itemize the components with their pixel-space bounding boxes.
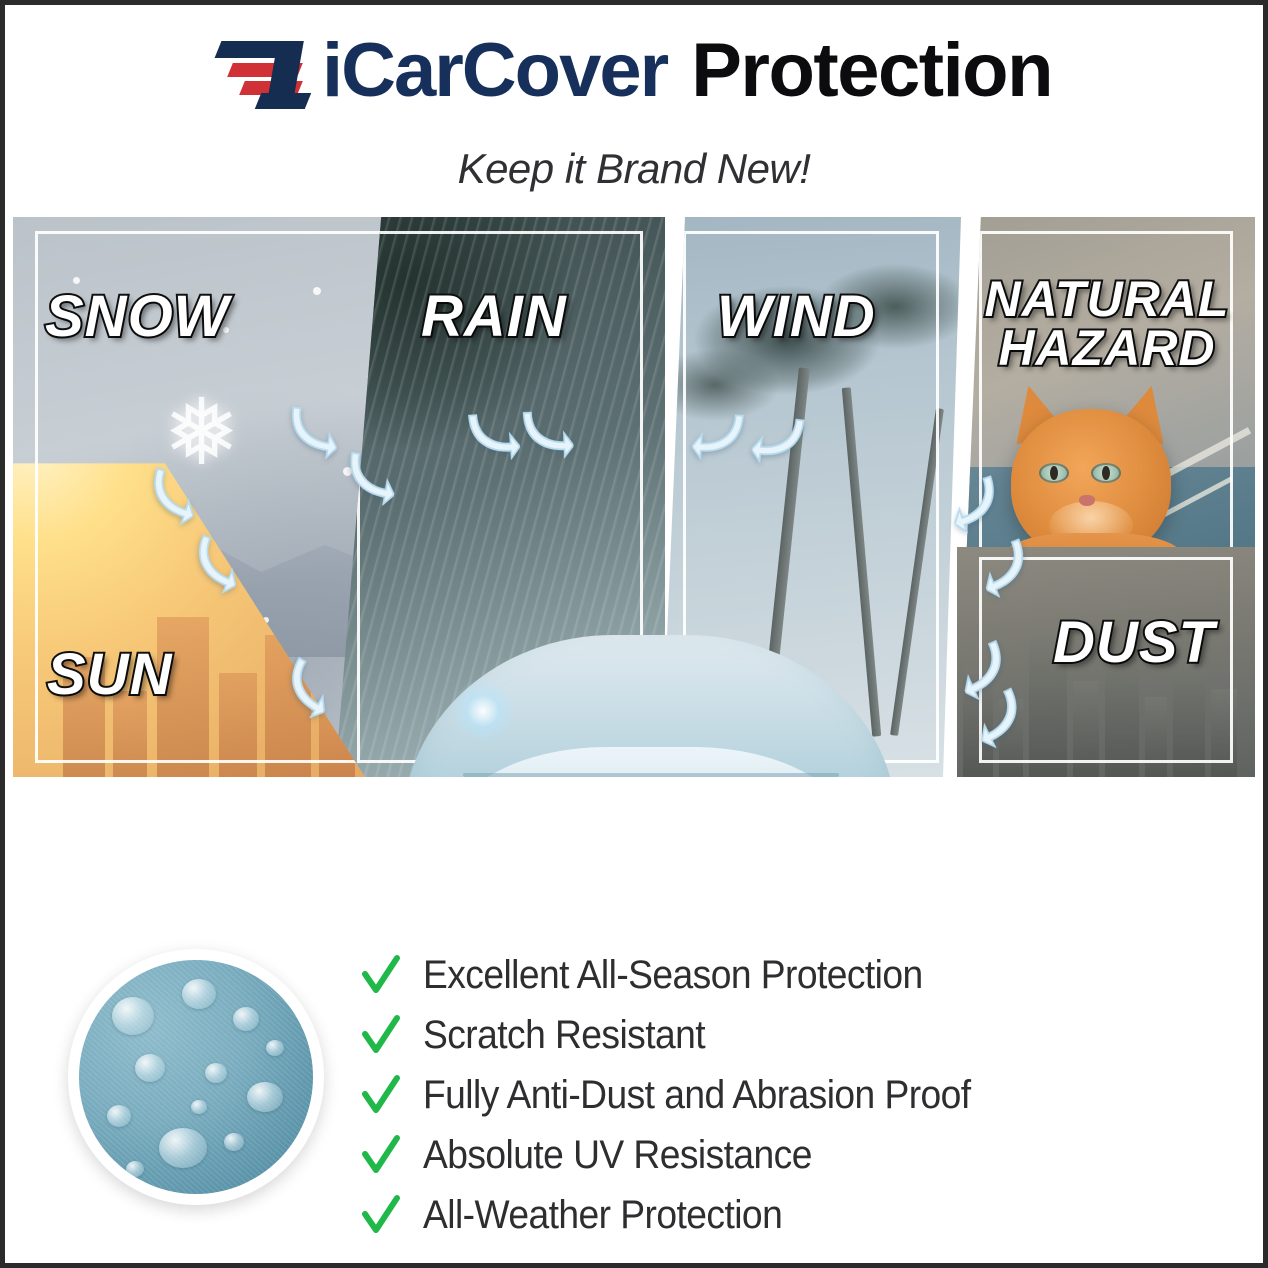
panel-label-wind: WIND <box>717 289 876 346</box>
deflection-arrow-icon <box>339 445 402 508</box>
panel-label-hazard: NATURAL HAZARD <box>977 275 1237 373</box>
check-icon <box>361 1014 401 1058</box>
product-infographic: iCarCover Protection Keep it Brand New! … <box>0 0 1268 1268</box>
brand-name: iCarCover <box>322 33 667 109</box>
panel-label-rain: RAIN <box>421 289 567 346</box>
list-item: Absolute UV Resistance <box>361 1127 1211 1184</box>
check-icon <box>361 954 401 998</box>
check-icon <box>361 1194 401 1238</box>
feature-text: Fully Anti-Dust and Abrasion Proof <box>423 1073 971 1118</box>
list-item: Excellent All-Season Protection <box>361 947 1211 1004</box>
brand-row: iCarCover Protection <box>5 33 1263 109</box>
check-icon <box>361 1074 401 1118</box>
water-beading-inset <box>68 949 324 1205</box>
features-section: Excellent All-Season Protection Scratch … <box>13 777 1255 1257</box>
feature-text: Excellent All-Season Protection <box>423 953 923 998</box>
list-item: All-Weather Protection <box>361 1187 1211 1244</box>
scenario-collage: ❅ SNOW <box>13 217 1255 777</box>
deflection-arrow-icon <box>518 404 574 460</box>
deflection-arrow-icon <box>463 405 521 463</box>
feature-list: Excellent All-Season Protection Scratch … <box>361 947 1211 1247</box>
brand-word: Protection <box>691 33 1052 109</box>
tagline: Keep it Brand New! <box>5 145 1263 193</box>
feature-text: All-Weather Protection <box>423 1193 782 1238</box>
deflection-arrow-icon <box>282 400 343 461</box>
panel-label-sun: SUN <box>47 647 172 704</box>
car-cover-product <box>343 635 957 777</box>
panel-label-snow: SNOW <box>45 289 229 346</box>
list-item: Fully Anti-Dust and Abrasion Proof <box>361 1067 1211 1124</box>
header: iCarCover Protection Keep it Brand New! <box>5 5 1263 210</box>
panel-label-dust: DUST <box>1053 615 1215 672</box>
wing-flag-logo-icon <box>216 33 312 109</box>
shine-glint-icon <box>451 679 515 743</box>
check-icon <box>361 1134 401 1178</box>
feature-text: Absolute UV Resistance <box>423 1133 812 1178</box>
snowflake-icon: ❅ <box>163 387 240 479</box>
feature-text: Scratch Resistant <box>423 1013 705 1058</box>
list-item: Scratch Resistant <box>361 1007 1211 1064</box>
deflection-arrow-icon <box>750 408 809 467</box>
deflection-arrow-icon <box>691 405 749 463</box>
